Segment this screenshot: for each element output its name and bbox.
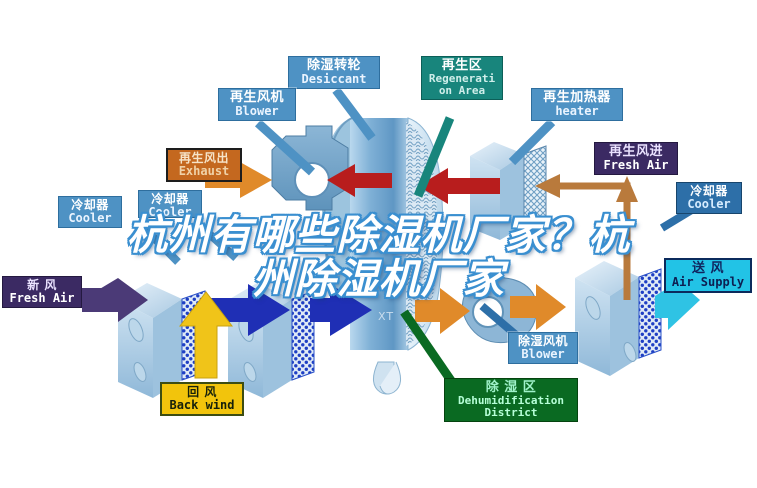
label-dehum-district-en2: District (449, 407, 573, 419)
label-regen-area: 再生区 Regenerati on Area (421, 56, 503, 100)
label-regen-heater-cn: 再生加热器 (536, 91, 618, 105)
label-regen-area-cn: 再生区 (426, 59, 498, 73)
label-desiccant-en: Desiccant (293, 73, 375, 86)
label-dehum-blower: 除湿风机 Blower (508, 332, 578, 364)
label-desiccant: 除湿转轮 Desiccant (288, 56, 380, 89)
label-cooler-left-a-en: Cooler (63, 212, 117, 225)
svg-text:XT: XT (378, 310, 394, 323)
label-air-supply-cn: 送 风 (670, 262, 746, 276)
label-regen-heater-en: heater (536, 105, 618, 118)
label-cooler-left-b-en: Cooler (143, 206, 197, 218)
label-back-wind-en: Back wind (166, 399, 238, 412)
label-regen-blower-cn: 再生风机 (223, 91, 291, 105)
label-exhaust-en: Exhaust (172, 165, 236, 178)
label-cooler-right-cn: 冷却器 (681, 185, 737, 198)
label-cooler-right-en: Cooler (681, 198, 737, 211)
label-exhaust-cn: 再生风出 (172, 152, 236, 165)
label-cooler-right: 冷却器 Cooler (676, 182, 742, 214)
label-fresh-air-regen: 再生风进 Fresh Air (594, 142, 678, 175)
label-back-wind: 回 风 Back wind (160, 382, 244, 416)
label-dehum-district-cn: 除 湿 区 (449, 381, 573, 395)
label-regen-blower: 再生风机 Blower (218, 88, 296, 121)
cooler-block-right (575, 261, 661, 376)
diagram-canvas: XT (0, 0, 757, 488)
label-fresh-air-regen-en: Fresh Air (599, 159, 673, 172)
label-dehum-blower-en: Blower (513, 348, 573, 361)
label-cooler-left-b: 冷却器 Cooler (138, 190, 202, 218)
label-fresh-air-in-en: Fresh Air (7, 292, 77, 305)
regen-feed-arrow (559, 186, 627, 258)
label-cooler-left-b-cn: 冷却器 (143, 193, 197, 206)
label-fresh-air-in-cn: 新 风 (7, 279, 77, 292)
label-fresh-air-in: 新 风 Fresh Air (2, 276, 82, 308)
label-regen-area-en2: on Area (426, 85, 498, 97)
label-air-supply: 送 风 Air Supply (664, 258, 752, 293)
label-cooler-left-a: 冷却器 Cooler (58, 196, 122, 228)
label-exhaust: 再生风出 Exhaust (166, 148, 242, 182)
label-back-wind-cn: 回 风 (166, 386, 238, 399)
label-regen-heater: 再生加热器 heater (531, 88, 623, 121)
label-dehum-blower-cn: 除湿风机 (513, 335, 573, 348)
label-cooler-left-a-cn: 冷却器 (63, 199, 117, 212)
label-regen-blower-en: Blower (223, 105, 291, 118)
label-desiccant-cn: 除湿转轮 (293, 59, 375, 73)
label-dehum-district: 除 湿 区 Dehumidification District (444, 378, 578, 422)
label-air-supply-en: Air Supply (670, 276, 746, 289)
label-fresh-air-regen-cn: 再生风进 (599, 145, 673, 159)
